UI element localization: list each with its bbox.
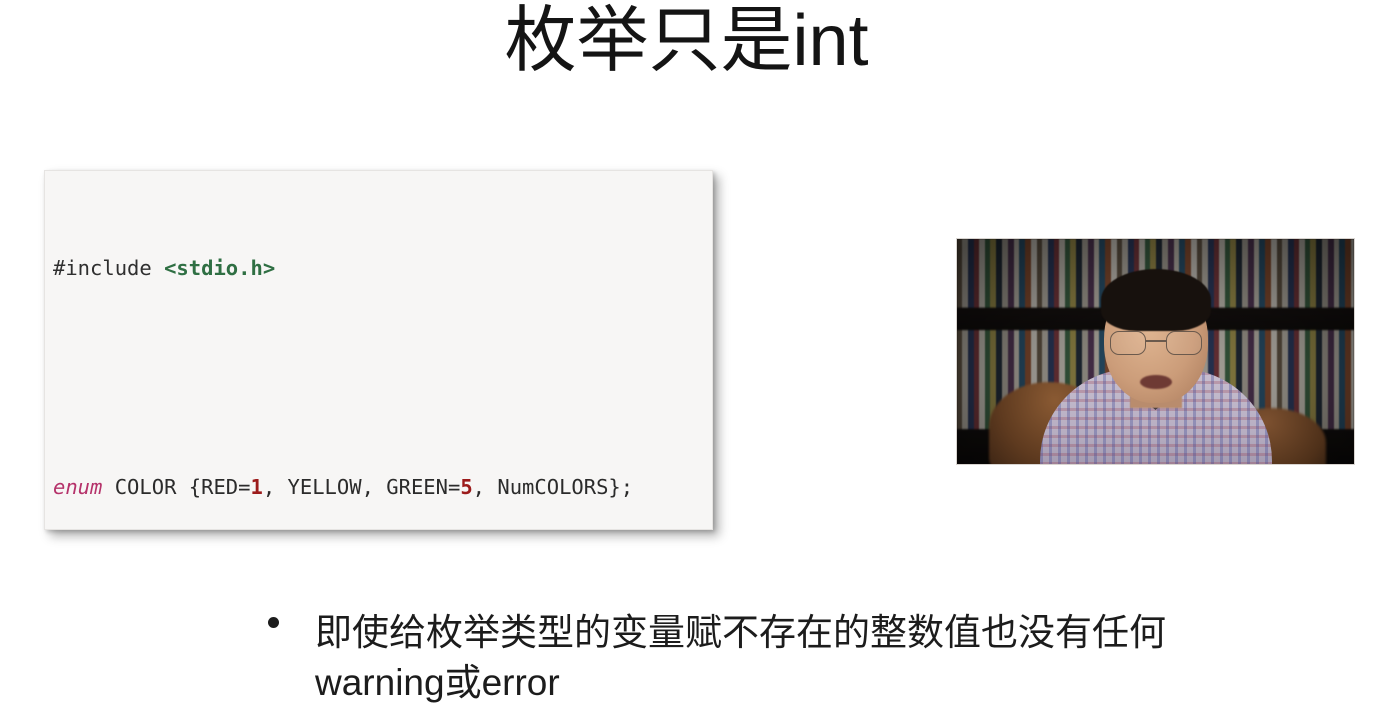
bullet-item-text: 即使给枚举类型的变量赋不存在的整数值也没有任何 warning或error [315,608,1328,708]
bullet-marker [268,617,279,628]
code-token-enum-name: COLOR [115,475,177,499]
code-token-enum-yellow: , YELLOW, [263,475,386,499]
bullet-list: 即使给枚举类型的变量赋不存在的整数值也没有任何 warning或error [268,608,1328,708]
code-token-space-2 [102,475,114,499]
code-token-preprocessor: #include [53,256,152,280]
bullet-line-2: warning或error [315,658,1328,708]
code-listing: #include <stdio.h> enum COLOR {RED=1, YE… [53,173,712,530]
code-token-space [152,256,164,280]
code-token-enum-red: RED= [201,475,250,499]
code-block-card: #include <stdio.h> enum COLOR {RED=1, YE… [44,170,713,530]
code-token-enum-open: { [176,475,201,499]
page-title: 枚举只是int [0,0,1373,86]
code-token-keyword-enum: enum [53,475,102,499]
presenter-hair [1101,269,1211,331]
code-token-enum-red-value: 1 [251,475,263,499]
presenter-mouth [1140,375,1172,389]
code-token-enum-tail: , NumCOLORS}; [473,475,633,499]
code-token-include-path: <stdio.h> [164,256,275,280]
presenter-video-overlay[interactable] [956,238,1355,465]
glasses-icon [1108,331,1204,353]
glasses-lens-right [1166,331,1202,355]
code-token-enum-green: GREEN= [386,475,460,499]
code-token-enum-green-value: 5 [460,475,472,499]
code-line-include: #include <stdio.h> [53,255,712,282]
glasses-bridge [1146,340,1166,342]
glasses-lens-left [1110,331,1146,355]
code-line-blank-1 [53,365,712,392]
code-line-enum-decl: enum COLOR {RED=1, YELLOW, GREEN=5, NumC… [53,474,712,501]
bullet-line-1: 即使给枚举类型的变量赋不存在的整数值也没有任何 [315,608,1328,658]
